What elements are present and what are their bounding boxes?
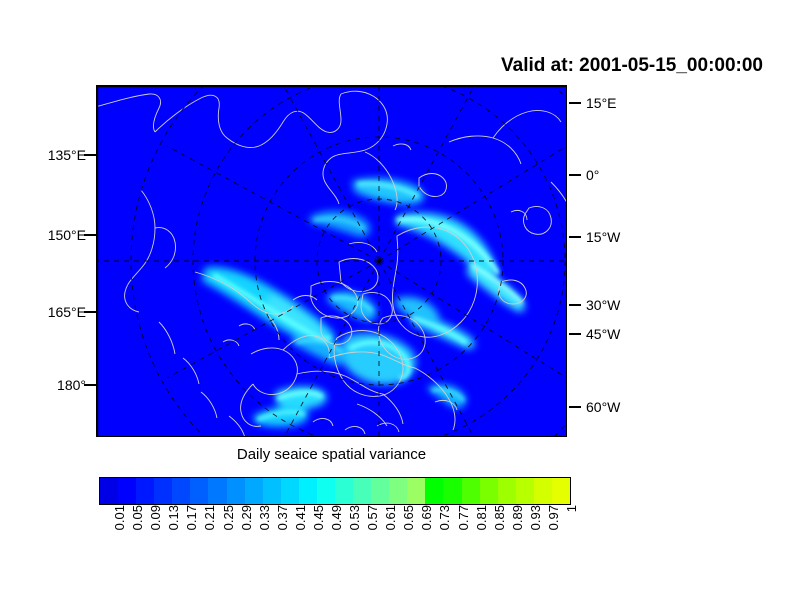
colorbar-cell bbox=[425, 478, 443, 504]
colorbar-tick-label: 0.69 bbox=[420, 505, 433, 530]
colorbar-cell bbox=[299, 478, 317, 504]
colorbar bbox=[99, 477, 571, 505]
right-axis-tick-label: 15°E bbox=[586, 96, 617, 110]
right-axis-tick-mark bbox=[569, 406, 581, 408]
colorbar-cell bbox=[281, 478, 299, 504]
colorbar-cell bbox=[462, 478, 480, 504]
colorbar-tick-label: 0.45 bbox=[312, 505, 325, 530]
colorbar-cell bbox=[443, 478, 461, 504]
colorbar-tick-label: 0.77 bbox=[457, 505, 470, 530]
colorbar-cell bbox=[534, 478, 552, 504]
colorbar-cell bbox=[317, 478, 335, 504]
colorbar-cell bbox=[407, 478, 425, 504]
colorbar-cell bbox=[208, 478, 226, 504]
colorbar-tick-label: 0.09 bbox=[149, 505, 162, 530]
colorbar-cell bbox=[136, 478, 154, 504]
right-axis-tick-label: 45°W bbox=[586, 327, 620, 341]
right-axis-tick-label: 15°W bbox=[586, 230, 620, 244]
colorbar-cell bbox=[190, 478, 208, 504]
colorbar-tick-label: 0.01 bbox=[113, 505, 126, 530]
colorbar-tick-label: 1 bbox=[565, 505, 578, 512]
colorbar-cell bbox=[389, 478, 407, 504]
colorbar-cell bbox=[263, 478, 281, 504]
right-axis-tick-mark bbox=[569, 304, 581, 306]
right-axis-tick-mark bbox=[569, 236, 581, 238]
colorbar-tick-label: 0.17 bbox=[185, 505, 198, 530]
colorbar-tick-label: 0.05 bbox=[131, 505, 144, 530]
colorbar-cell bbox=[227, 478, 245, 504]
right-axis-tick-mark bbox=[569, 174, 581, 176]
colorbar-tick-label: 0.61 bbox=[384, 505, 397, 530]
colorbar-tick-label: 0.53 bbox=[348, 505, 361, 530]
colorbar-cell bbox=[118, 478, 136, 504]
north-pole-marker bbox=[377, 259, 380, 262]
colorbar-cell bbox=[100, 478, 118, 504]
colorbar-cell bbox=[552, 478, 570, 504]
left-axis-tick-label: 165°E bbox=[48, 305, 86, 319]
colorbar-tick-label: 0.37 bbox=[276, 505, 289, 530]
colorbar-cell bbox=[516, 478, 534, 504]
colorbar-tick-label: 0.97 bbox=[547, 505, 560, 530]
right-axis-tick-label: 30°W bbox=[586, 298, 620, 312]
page-title: Valid at: 2001-05-15_00:00:00 bbox=[0, 55, 763, 77]
colorbar-tick-label: 0.65 bbox=[402, 505, 415, 530]
colorbar-cell bbox=[353, 478, 371, 504]
colorbar-cell bbox=[245, 478, 263, 504]
colorbar-tick-label: 0.73 bbox=[438, 505, 451, 530]
colorbar-cell bbox=[154, 478, 172, 504]
colorbar-tick-label: 0.41 bbox=[294, 505, 307, 530]
colorbar-tick-label: 0.21 bbox=[203, 505, 216, 530]
left-axis-tick-label: 135°E bbox=[48, 148, 86, 162]
right-axis-tick-label: 0° bbox=[586, 168, 599, 182]
colorbar-cell bbox=[498, 478, 516, 504]
colorbar-cell bbox=[480, 478, 498, 504]
colorbar-cell bbox=[335, 478, 353, 504]
colorbar-tick-label: 0.33 bbox=[258, 505, 271, 530]
polar-stereographic-map bbox=[97, 86, 567, 437]
colorbar-tick-label: 0.57 bbox=[366, 505, 379, 530]
map-plot-panel bbox=[96, 85, 567, 437]
left-axis-tick-label: 150°E bbox=[48, 228, 86, 242]
colorbar-tick-label: 0.49 bbox=[330, 505, 343, 530]
colorbar-tick-label: 0.29 bbox=[240, 505, 253, 530]
right-axis-tick-mark bbox=[569, 102, 581, 104]
colorbar-tick-label: 0.13 bbox=[167, 505, 180, 530]
colorbar-cell bbox=[172, 478, 190, 504]
colorbar-tick-label: 0.81 bbox=[475, 505, 488, 530]
map-background bbox=[97, 86, 567, 437]
colorbar-tick-labels: 0.010.050.090.130.170.210.250.290.330.37… bbox=[99, 505, 569, 565]
map-caption: Daily seaice spatial variance bbox=[96, 446, 567, 463]
right-axis-tick-mark bbox=[569, 333, 581, 335]
left-axis-tick-label: 180° bbox=[57, 378, 86, 392]
colorbar-cell bbox=[371, 478, 389, 504]
right-axis-tick-label: 60°W bbox=[586, 400, 620, 414]
colorbar-tick-label: 0.89 bbox=[511, 505, 524, 530]
colorbar-tick-label: 0.85 bbox=[493, 505, 506, 530]
colorbar-tick-label: 0.93 bbox=[529, 505, 542, 530]
colorbar-tick-label: 0.25 bbox=[222, 505, 235, 530]
